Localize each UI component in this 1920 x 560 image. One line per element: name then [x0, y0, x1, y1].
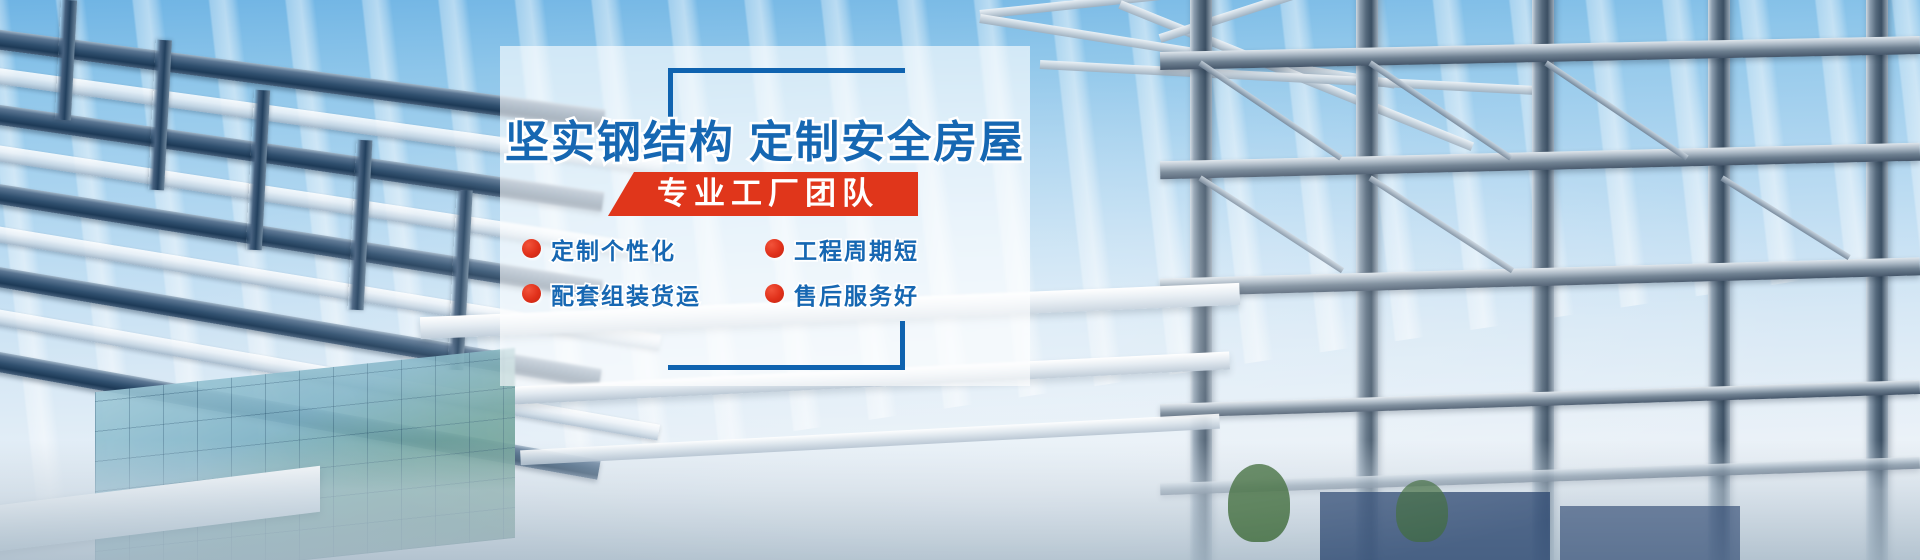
subtitle-ribbon: 专业工厂团队 — [608, 172, 918, 216]
feature-item-0: 定制个性化 — [522, 228, 765, 269]
feature-item-label: 定制个性化 — [551, 232, 676, 266]
feature-item-1: 工程周期短 — [765, 228, 1008, 269]
feature-item-label: 售后服务好 — [794, 277, 919, 311]
bullet-dot-icon — [522, 284, 541, 303]
page-title: 坚实钢结构 定制安全房屋 — [500, 114, 1030, 172]
feature-item-label: 工程周期短 — [794, 232, 919, 266]
feature-item-label: 配套组装货运 — [551, 277, 701, 311]
feature-list: 定制个性化 工程周期短 配套组装货运 售后服务好 — [500, 228, 1030, 314]
feature-item-3: 售后服务好 — [765, 273, 1008, 314]
subtitle-ribbon-label: 专业工厂团队 — [647, 172, 879, 216]
bullet-dot-icon — [765, 284, 784, 303]
bullet-dot-icon — [765, 239, 784, 258]
bullet-dot-icon — [522, 239, 541, 258]
feature-item-2: 配套组装货运 — [522, 273, 765, 314]
content-panel — [500, 46, 1030, 386]
hero-banner: 坚实钢结构 定制安全房屋 专业工厂团队 定制个性化 工程周期短 配套组装货运 售… — [0, 0, 1920, 560]
